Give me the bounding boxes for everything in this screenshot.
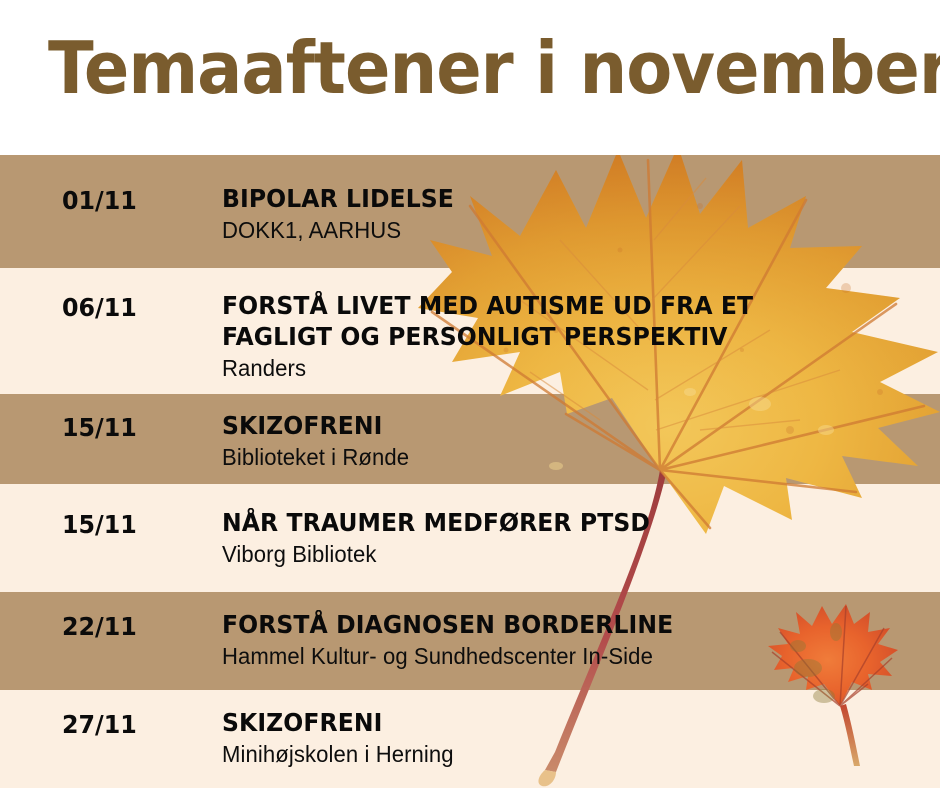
event-row[interactable]: 15/11NÅR TRAUMER MEDFØRER PTSDViborg Bib…	[0, 484, 940, 592]
event-venue: Minihøjskolen i Herning	[222, 740, 902, 769]
event-title: SKIZOFRENI	[222, 410, 888, 441]
event-body: SKIZOFRENIBiblioteket i Rønde	[222, 410, 930, 472]
event-date: 27/11	[62, 710, 137, 740]
event-body: NÅR TRAUMER MEDFØRER PTSDViborg Bibliote…	[222, 507, 930, 569]
event-venue: Biblioteket i Rønde	[222, 443, 902, 472]
event-body: FORSTÅ DIAGNOSEN BORDERLINEHammel Kultur…	[222, 609, 930, 671]
event-venue: Viborg Bibliotek	[222, 540, 902, 569]
event-poster: 01/11BIPOLAR LIDELSEDOKK1, AARHUS06/11FO…	[0, 0, 940, 788]
event-title: SKIZOFRENI	[222, 707, 888, 738]
event-venue: DOKK1, AARHUS	[222, 216, 902, 245]
event-body: BIPOLAR LIDELSEDOKK1, AARHUS	[222, 183, 930, 245]
page-title: Temaaftener i november	[48, 28, 940, 108]
event-row[interactable]: 27/11SKIZOFRENIMinihøjskolen i Herning	[0, 690, 940, 788]
event-row[interactable]: 15/11SKIZOFRENIBiblioteket i Rønde	[0, 394, 940, 484]
event-title: BIPOLAR LIDELSE	[222, 183, 888, 214]
event-date: 01/11	[62, 186, 137, 216]
event-body: SKIZOFRENIMinihøjskolen i Herning	[222, 707, 930, 769]
poster-header: Temaaftener i november	[0, 0, 940, 155]
event-title: NÅR TRAUMER MEDFØRER PTSD	[222, 507, 888, 538]
event-venue: Randers	[222, 354, 902, 383]
event-date: 22/11	[62, 612, 137, 642]
event-row[interactable]: 06/11FORSTÅ LIVET MED AUTISME UD FRA ET …	[0, 268, 940, 394]
event-date: 15/11	[62, 413, 137, 443]
event-title: FORSTÅ DIAGNOSEN BORDERLINE	[222, 609, 888, 640]
event-title: FORSTÅ LIVET MED AUTISME UD FRA ET FAGLI…	[222, 290, 888, 352]
event-row[interactable]: 22/11FORSTÅ DIAGNOSEN BORDERLINEHammel K…	[0, 592, 940, 690]
event-venue: Hammel Kultur- og Sundhedscenter In-Side	[222, 642, 902, 671]
event-row[interactable]: 01/11BIPOLAR LIDELSEDOKK1, AARHUS	[0, 155, 940, 268]
event-date: 15/11	[62, 510, 137, 540]
event-body: FORSTÅ LIVET MED AUTISME UD FRA ET FAGLI…	[222, 290, 930, 383]
event-date: 06/11	[62, 293, 137, 323]
